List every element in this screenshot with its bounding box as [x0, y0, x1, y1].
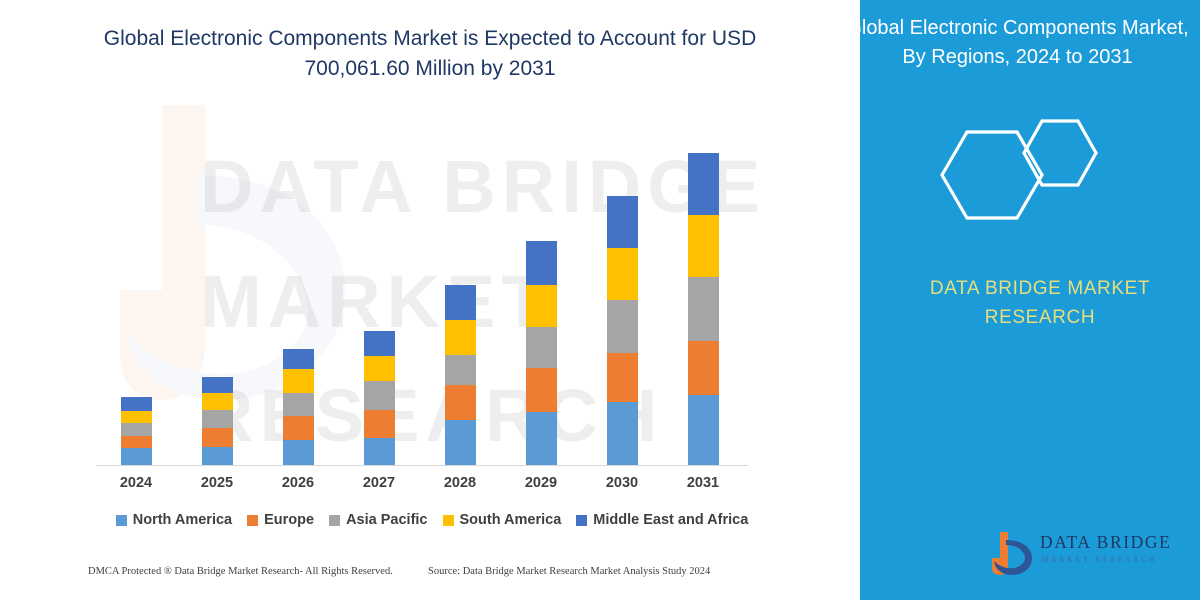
stacked-bar[interactable]: [202, 377, 233, 466]
bar-segment[interactable]: [688, 277, 719, 341]
bar-segment[interactable]: [607, 196, 638, 248]
bar-segment[interactable]: [121, 423, 152, 436]
bar-segment[interactable]: [283, 349, 314, 369]
bar-segment[interactable]: [688, 395, 719, 465]
x-axis-label-2027: 2027: [339, 475, 419, 491]
bar-segment[interactable]: [364, 331, 395, 356]
x-axis-label-2029: 2029: [501, 475, 581, 491]
hexagon-2024-shape: [1024, 121, 1096, 185]
bar-segment[interactable]: [121, 448, 152, 465]
bar-segment[interactable]: [202, 410, 233, 428]
bar-segment[interactable]: [202, 377, 233, 393]
bar-segment[interactable]: [121, 411, 152, 423]
data-bridge-logo: DATA BRIDGE MARKET RESEARCH: [988, 528, 1178, 580]
bar-segment[interactable]: [445, 385, 476, 420]
legend-label: South America: [460, 512, 562, 528]
bar-segment[interactable]: [202, 447, 233, 465]
legend-label: Asia Pacific: [346, 512, 427, 528]
legend-label: Middle East and Africa: [593, 512, 748, 528]
bar-segment[interactable]: [121, 397, 152, 411]
x-axis-label-2028: 2028: [420, 475, 500, 491]
bar-segment[interactable]: [445, 355, 476, 385]
bar-segment[interactable]: [283, 416, 314, 439]
bar-segment[interactable]: [607, 353, 638, 402]
bar-segment[interactable]: [688, 341, 719, 395]
footer-copyright: DMCA Protected ® Data Bridge Market Rese…: [88, 566, 393, 577]
x-axis-label-2024: 2024: [96, 475, 176, 491]
bar-group-2027: [339, 130, 419, 465]
bar-segment[interactable]: [526, 285, 557, 327]
stacked-bar[interactable]: [526, 241, 557, 465]
infographic-page: Global Electronic Components Market, By …: [0, 0, 1200, 600]
x-axis-label-2025: 2025: [177, 475, 257, 491]
logo-title: DATA BRIDGE: [1040, 532, 1171, 553]
bar-group-2031: [663, 130, 743, 465]
bar-segment[interactable]: [607, 300, 638, 352]
x-axis-label-2030: 2030: [582, 475, 662, 491]
stacked-bar[interactable]: [283, 349, 314, 465]
stacked-bar[interactable]: [445, 285, 476, 465]
legend-label: North America: [133, 512, 232, 528]
bar-segment[interactable]: [283, 393, 314, 416]
bar-segment[interactable]: [526, 368, 557, 412]
legend-swatch-icon: [576, 515, 587, 526]
logo-tagline: MARKET RESEARCH: [1041, 555, 1157, 564]
bar-group-2029: [501, 130, 581, 465]
stacked-bar[interactable]: [364, 331, 395, 465]
bar-segment[interactable]: [445, 320, 476, 354]
bar-segment[interactable]: [202, 428, 233, 447]
stacked-bar[interactable]: [688, 153, 719, 465]
bar-group-2024: [96, 130, 176, 465]
legend-swatch-icon: [247, 515, 258, 526]
bar-segment[interactable]: [364, 381, 395, 409]
bar-group-2026: [258, 130, 338, 465]
bar-chart: 20242025202620272028202920302031 North A…: [0, 0, 860, 600]
plot-area: [96, 130, 744, 465]
hexagon-outlines-icon: [920, 110, 1140, 240]
legend-item-asia-pacific[interactable]: Asia Pacific: [329, 512, 427, 528]
x-axis-labels: 20242025202620272028202920302031: [96, 475, 744, 501]
bar-segment[interactable]: [283, 369, 314, 393]
legend-swatch-icon: [329, 515, 340, 526]
legend-item-north-america[interactable]: North America: [116, 512, 232, 528]
x-axis-label-2031: 2031: [663, 475, 743, 491]
bar-segment[interactable]: [688, 153, 719, 215]
bar-group-2030: [582, 130, 662, 465]
bar-segment[interactable]: [526, 241, 557, 285]
legend-item-middle-east-and-africa[interactable]: Middle East and Africa: [576, 512, 748, 528]
bar-segment[interactable]: [202, 393, 233, 410]
bar-segment[interactable]: [445, 285, 476, 320]
legend-swatch-icon: [443, 515, 454, 526]
stacked-bar[interactable]: [607, 196, 638, 465]
x-axis-line: [96, 465, 748, 466]
bar-segment[interactable]: [526, 327, 557, 367]
brand-name-text: DATA BRIDGE MARKET RESEARCH: [925, 275, 1155, 332]
bar-segment[interactable]: [607, 248, 638, 300]
hexagon-badges: [920, 110, 1140, 240]
x-axis-label-2026: 2026: [258, 475, 338, 491]
legend-item-europe[interactable]: Europe: [247, 512, 314, 528]
bar-segment[interactable]: [283, 440, 314, 465]
bar-segment[interactable]: [688, 215, 719, 277]
bar-segment[interactable]: [526, 412, 557, 465]
legend-label: Europe: [264, 512, 314, 528]
stacked-bar[interactable]: [121, 397, 152, 465]
bar-segment[interactable]: [364, 410, 395, 438]
data-bridge-b-logo-icon: [988, 528, 1036, 578]
bar-segment[interactable]: [607, 402, 638, 465]
chart-legend: North AmericaEuropeAsia PacificSouth Ame…: [96, 512, 768, 528]
legend-swatch-icon: [116, 515, 127, 526]
bar-segment[interactable]: [121, 436, 152, 448]
bar-segment[interactable]: [445, 420, 476, 465]
bar-segment[interactable]: [364, 356, 395, 381]
left-white-panel: DATA BRIDGE MARKET RESEARCH Global Elect…: [0, 0, 860, 600]
bar-segment[interactable]: [364, 438, 395, 465]
right-panel-title: Global Electronic Components Market, By …: [845, 14, 1190, 72]
bar-group-2028: [420, 130, 500, 465]
footer-source: Source: Data Bridge Market Research Mark…: [428, 566, 710, 577]
bar-group-2025: [177, 130, 257, 465]
legend-item-south-america[interactable]: South America: [443, 512, 562, 528]
